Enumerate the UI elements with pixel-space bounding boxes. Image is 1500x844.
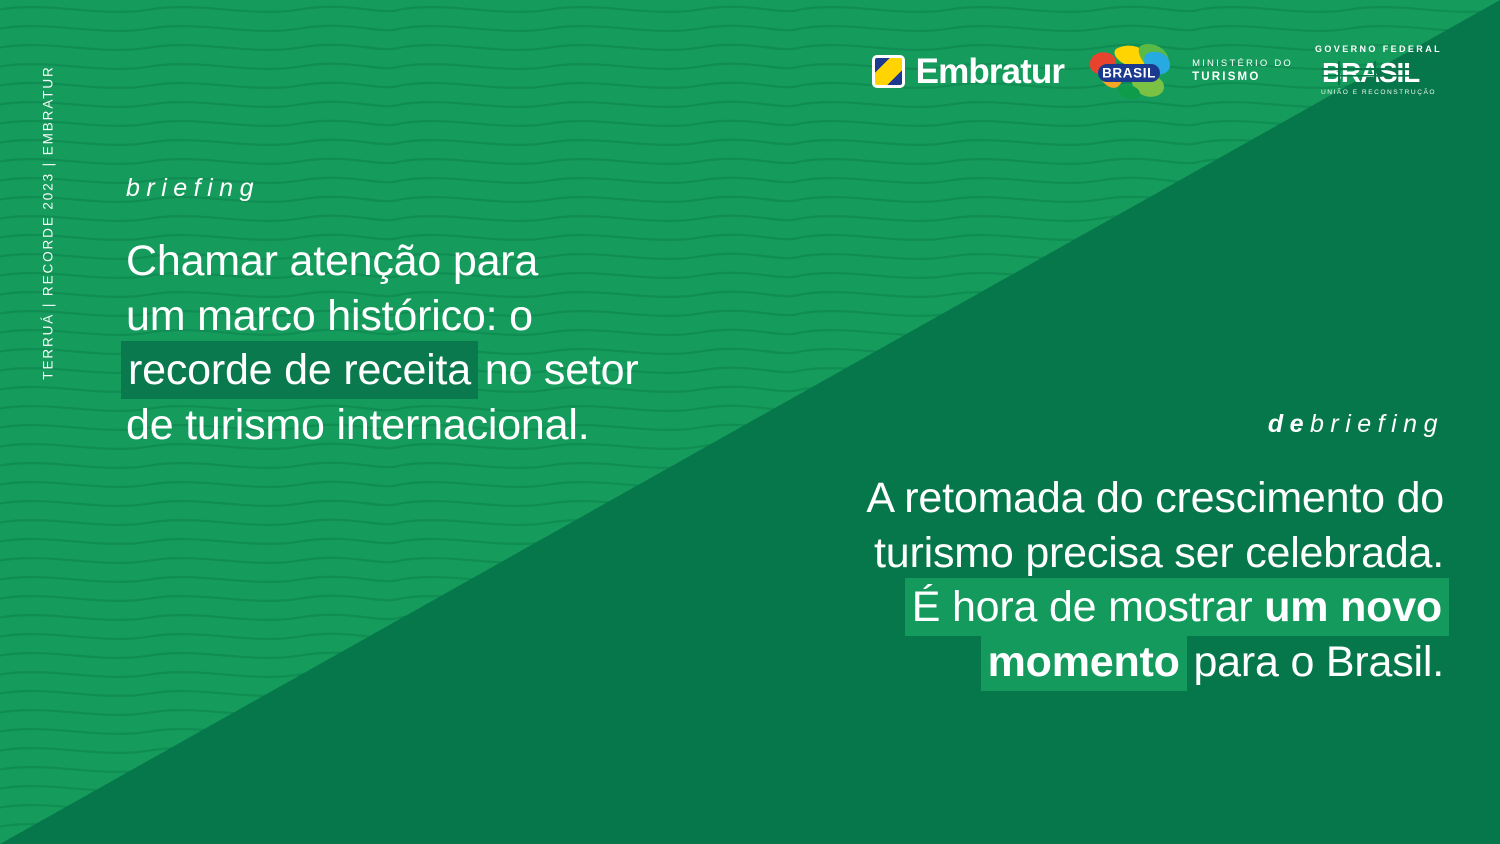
briefing-body: Chamar atenção para um marco histórico: … xyxy=(126,234,639,452)
governo-federal-logo: GOVERNO FEDERAL BRASIL UNIÃO E RECONSTRU… xyxy=(1315,45,1442,97)
debriefing-line-2: turismo precisa ser celebrada. xyxy=(866,526,1444,581)
brasil-blob-icon: BRASIL xyxy=(1086,43,1174,99)
debriefing-highlight-row-1: É hora de mostrar um novo xyxy=(910,583,1444,631)
debriefing-line-4: momento para o Brasil. xyxy=(866,635,1444,690)
debriefing-line-3-plain: É hora de mostrar xyxy=(912,583,1265,631)
svg-text:BRASIL: BRASIL xyxy=(1322,57,1420,87)
briefing-block: briefing Chamar atenção para um marco hi… xyxy=(126,176,639,452)
debriefing-kicker: debriefing xyxy=(866,412,1444,437)
govbr-bottom-label: UNIÃO E RECONSTRUÇÃO xyxy=(1321,90,1436,97)
mtur-line1: MINISTÉRIO DO xyxy=(1192,59,1293,69)
debriefing-kicker-light: briefing xyxy=(1310,410,1444,438)
briefing-line-3: recorde de receita no setor xyxy=(126,343,639,398)
debriefing-line-4-plain: para o Brasil. xyxy=(1182,638,1444,686)
govbr-brasil-mark: BRASIL xyxy=(1322,57,1434,87)
mtur-line2: TURISMO xyxy=(1192,72,1293,84)
debriefing-kicker-bold: de xyxy=(1268,410,1310,438)
debriefing-highlight-row-2: momento xyxy=(986,638,1182,686)
briefing-line-2: um marco histórico: o xyxy=(126,289,639,344)
briefing-line-1: Chamar atenção para xyxy=(126,234,639,289)
briefing-highlight-phrase: recorde de receita xyxy=(126,346,473,394)
briefing-kicker: briefing xyxy=(126,176,639,201)
embratur-mark-icon xyxy=(872,55,905,88)
embratur-mark-inner xyxy=(875,58,902,85)
debriefing-block: debriefing A retomada do crescimento do … xyxy=(866,412,1444,689)
logo-bar: Embratur BRASIL MINISTÉRIO DO TURISMO xyxy=(872,43,1442,99)
govbr-top-label: GOVERNO FEDERAL xyxy=(1315,45,1442,54)
debriefing-body: A retomada do crescimento do turismo pre… xyxy=(866,471,1444,689)
briefing-line-4: de turismo internacional. xyxy=(126,398,639,453)
ministerio-turismo-logo: MINISTÉRIO DO TURISMO xyxy=(1192,59,1293,83)
debriefing-line-1: A retomada do crescimento do xyxy=(866,471,1444,526)
embratur-wordmark: Embratur xyxy=(916,54,1064,89)
debriefing-line-3-bold: um novo xyxy=(1264,583,1442,631)
embratur-logo: Embratur xyxy=(872,54,1064,89)
debriefing-line-3: É hora de mostrar um novo xyxy=(866,580,1444,635)
svg-text:BRASIL: BRASIL xyxy=(1102,66,1156,81)
slide-root: TERRUÁ | RECORDE 2023 | EMBRATUR Embratu… xyxy=(0,0,1500,844)
briefing-line-3-rest: no setor xyxy=(473,346,639,394)
